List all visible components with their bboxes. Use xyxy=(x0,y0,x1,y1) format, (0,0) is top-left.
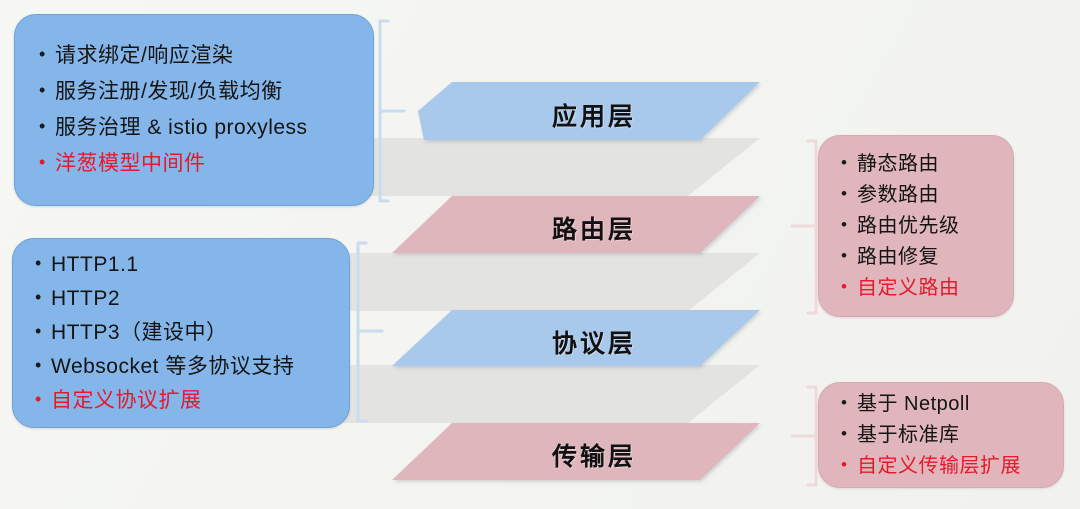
list-item-label: 路由优先级 xyxy=(857,216,960,237)
bullet-icon: • xyxy=(39,153,55,171)
bullet-icon: • xyxy=(39,81,55,99)
bracket-protocol xyxy=(356,240,396,424)
bracket-transport xyxy=(778,384,818,488)
layer-label-application: 应用层 xyxy=(552,97,636,133)
diagram-canvas: 应用层 路由层 协议层 传输层 • 请求绑定/响应渲染 • 服务注册/发现/负载… xyxy=(0,0,1080,509)
layer-label-protocol: 协议层 xyxy=(552,324,636,360)
list-item-label: 自定义传输层扩展 xyxy=(857,456,1021,477)
layer-bands xyxy=(392,82,760,480)
list-item-label: 服务注册/发现/负载均衡 xyxy=(55,81,283,103)
list-item-label: HTTP3（建设中） xyxy=(51,322,228,344)
card-protocol-capabilities[interactable]: • HTTP1.1 • HTTP2 • HTTP3（建设中） • Websock… xyxy=(12,238,350,428)
bullet-icon: • xyxy=(35,356,51,374)
list-item: • 路由优先级 xyxy=(841,216,1013,237)
bracket-application xyxy=(378,18,418,204)
list-item-label: 基于 Netpoll xyxy=(857,394,970,415)
list-item-label: 请求绑定/响应渲染 xyxy=(55,45,233,67)
bullet-icon: • xyxy=(35,322,51,340)
list-item: • 服务注册/发现/负载均衡 xyxy=(39,81,373,103)
list-item-label: 洋葱模型中间件 xyxy=(55,153,206,175)
card-application-capabilities[interactable]: • 请求绑定/响应渲染 • 服务注册/发现/负载均衡 • 服务治理 & isti… xyxy=(14,14,374,206)
list-item-highlighted: • 自定义路由 xyxy=(841,278,1013,299)
bullet-icon: • xyxy=(39,45,55,63)
list-item-label: 服务治理 & istio proxyless xyxy=(55,117,308,139)
list-item-highlighted: • 洋葱模型中间件 xyxy=(39,153,373,175)
list-item-label: 自定义协议扩展 xyxy=(51,390,202,412)
layer-label-routing: 路由层 xyxy=(552,210,636,246)
list-item: • 静态路由 xyxy=(841,154,1013,175)
list-item: • HTTP2 xyxy=(35,288,349,310)
layer-label-transport: 传输层 xyxy=(552,437,636,473)
list-item: • 服务治理 & istio proxyless xyxy=(39,117,373,139)
list-item: • 路由修复 xyxy=(841,247,1013,268)
list-item: • 基于 Netpoll xyxy=(841,394,1063,415)
bullet-icon: • xyxy=(841,456,857,473)
list-item-label: Websocket 等多协议支持 xyxy=(51,356,294,378)
bracket-routing xyxy=(778,138,818,316)
bullet-icon: • xyxy=(841,278,857,295)
list-item-label: 路由修复 xyxy=(857,247,939,268)
bullet-icon: • xyxy=(841,185,857,202)
list-item-highlighted: • 自定义传输层扩展 xyxy=(841,456,1063,477)
bullet-icon: • xyxy=(841,425,857,442)
list-item: • Websocket 等多协议支持 xyxy=(35,356,349,378)
list-item: • 基于标准库 xyxy=(841,425,1063,446)
bullet-icon: • xyxy=(39,117,55,135)
bullet-icon: • xyxy=(841,216,857,233)
list-item: • 请求绑定/响应渲染 xyxy=(39,45,373,67)
bullet-icon: • xyxy=(841,394,857,411)
bullet-icon: • xyxy=(35,288,51,306)
list-item: • HTTP1.1 xyxy=(35,254,349,276)
list-item-label: HTTP2 xyxy=(51,288,120,310)
bullet-icon: • xyxy=(841,247,857,264)
list-item: • 参数路由 xyxy=(841,185,1013,206)
bullet-icon: • xyxy=(35,390,51,408)
list-item-label: 自定义路由 xyxy=(857,278,960,299)
bullet-icon: • xyxy=(841,154,857,171)
list-item: • HTTP3（建设中） xyxy=(35,322,349,344)
card-routing-capabilities[interactable]: • 静态路由 • 参数路由 • 路由优先级 • 路由修复 • 自定义路由 xyxy=(818,135,1014,317)
list-item-label: 参数路由 xyxy=(857,185,939,206)
bullet-icon: • xyxy=(35,254,51,272)
list-item-highlighted: • 自定义协议扩展 xyxy=(35,390,349,412)
list-item-label: 基于标准库 xyxy=(857,425,960,446)
card-transport-capabilities[interactable]: • 基于 Netpoll • 基于标准库 • 自定义传输层扩展 xyxy=(818,382,1064,488)
list-item-label: HTTP1.1 xyxy=(51,254,139,276)
list-item-label: 静态路由 xyxy=(857,154,939,175)
